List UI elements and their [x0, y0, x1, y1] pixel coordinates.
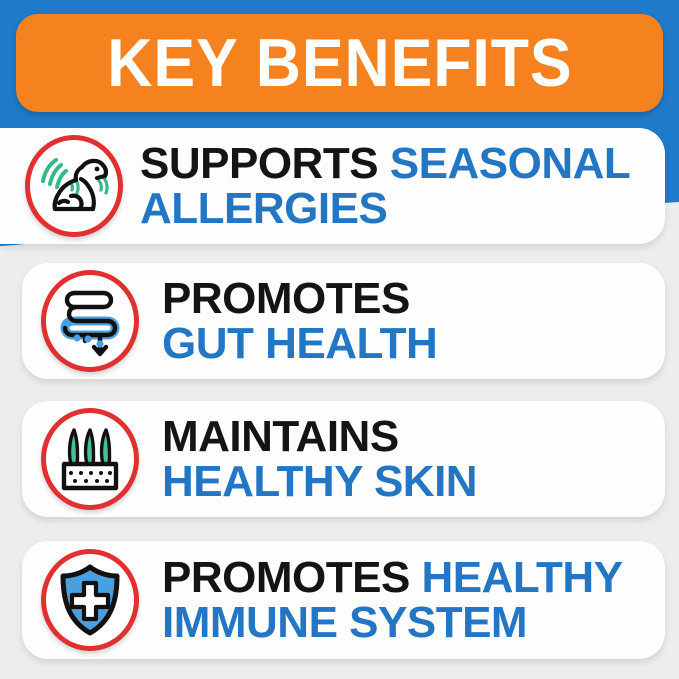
benefit-text: PROMOTES HEALTHY IMMUNE SYSTEM	[162, 555, 651, 646]
benefit-lead-text: MAINTAINS	[162, 412, 399, 461]
scratching-dog-icon	[25, 135, 123, 237]
key-benefits-banner: KEY BENEFITS	[16, 14, 663, 112]
benefit-icon-wrapper	[40, 407, 140, 511]
benefit-icon-wrapper	[40, 548, 140, 652]
benefit-card-gut-health[interactable]: PROMOTES GUT HEALTH	[22, 263, 665, 379]
benefit-text: MAINTAINS HEALTHY SKIN	[162, 414, 651, 505]
benefit-card-seasonal-allergies[interactable]: SUPPORTS SEASONAL ALLERGIES	[0, 128, 665, 244]
benefit-card-immune-system[interactable]: PROMOTES HEALTHY IMMUNE SYSTEM	[22, 541, 665, 659]
benefit-lead-text: PROMOTES	[162, 274, 410, 323]
benefit-icon-wrapper	[24, 134, 124, 238]
shield-cross-icon	[41, 549, 139, 651]
skin-follicle-icon	[41, 408, 139, 510]
benefit-icon-wrapper	[40, 269, 140, 373]
benefit-text: PROMOTES GUT HEALTH	[162, 276, 651, 367]
intestine-gut-icon	[41, 270, 139, 372]
benefit-highlight-text: HEALTHY SKIN	[162, 457, 477, 506]
benefit-lead-text: PROMOTES	[162, 553, 410, 602]
benefit-text: SUPPORTS SEASONAL ALLERGIES	[140, 141, 651, 232]
benefit-highlight-text: GUT HEALTH	[162, 319, 437, 368]
benefit-card-healthy-skin[interactable]: MAINTAINS HEALTHY SKIN	[22, 401, 665, 517]
benefit-lead-text: SUPPORTS	[140, 139, 378, 188]
page-title: KEY BENEFITS	[107, 29, 572, 97]
